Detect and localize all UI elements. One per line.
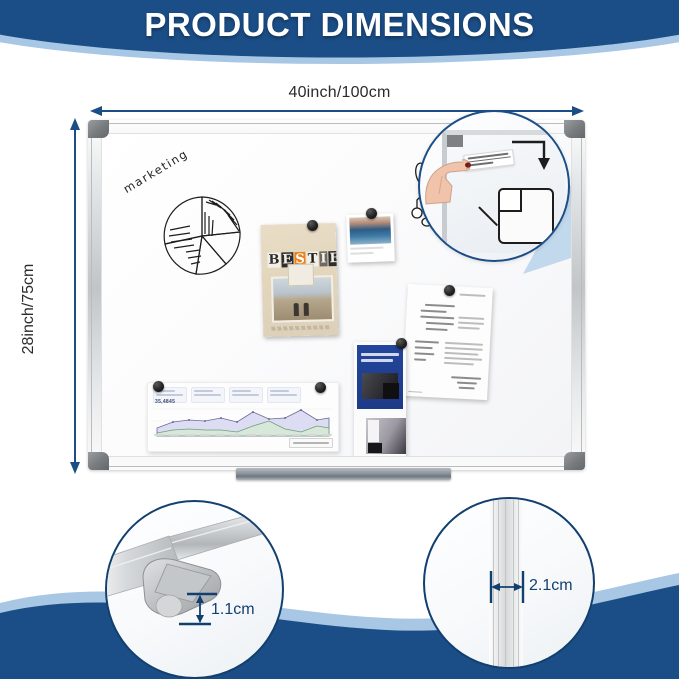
corner-cap-illustration: [107, 502, 282, 677]
frame-width-label: 2.1cm: [529, 577, 573, 595]
dashboard-area-chart: [153, 407, 333, 437]
corner-cap-top-left: [88, 120, 109, 138]
bestie-poster[interactable]: B E S T I E: [261, 223, 339, 337]
peel-direction-arrow: [510, 138, 556, 172]
dashboard-tab[interactable]: [191, 387, 225, 403]
booklet-cover: [357, 345, 403, 409]
corner-cap-bottom-left: [88, 452, 109, 470]
corner-cap-detail-circle: 1.1cm: [105, 500, 284, 679]
beach-photo-card[interactable]: [346, 213, 395, 263]
photo-card-caption-line: [350, 247, 383, 250]
magnet-dashboard-left[interactable]: [153, 381, 164, 392]
magnet-photo-card[interactable]: [366, 208, 377, 219]
analytics-dashboard-card[interactable]: 35,4845: [147, 382, 339, 452]
handwritten-text-marketing: marketing: [121, 146, 191, 196]
width-dimension-label: 40inch/100cm: [0, 84, 679, 102]
poster-footer-text: [271, 325, 331, 331]
corner-thickness-label: 1.1cm: [211, 601, 255, 619]
product-dimensions-infographic: PRODUCT DIMENSIONS 40inch/100cm 28inch/7…: [0, 0, 679, 679]
corner-cap-top-right: [564, 120, 585, 138]
magnet-booklet[interactable]: [396, 338, 407, 349]
corner-cap-bottom-right: [564, 452, 585, 470]
marker-pen-tray: [236, 468, 451, 480]
booklet-inner-image: [366, 418, 406, 454]
poster-inner-card: [288, 264, 315, 287]
header-banner: PRODUCT DIMENSIONS: [0, 0, 679, 78]
blue-booklet[interactable]: [354, 342, 406, 457]
magnet-poster[interactable]: [307, 220, 318, 231]
height-dimension-label: 28inch/75cm: [20, 244, 38, 374]
magnet-dashboard-right[interactable]: [315, 382, 326, 393]
dashboard-kpi-value: 35,4845: [155, 399, 175, 405]
photo-card-caption-line: [351, 252, 374, 255]
protective-film-callout: [418, 110, 570, 262]
magnet-letter[interactable]: [444, 285, 455, 296]
pie-chart-doodle-icon: [156, 192, 248, 278]
dashboard-tab[interactable]: [267, 387, 301, 403]
page-title: PRODUCT DIMENSIONS: [0, 6, 679, 44]
dashboard-detailed-analytics-button[interactable]: [289, 438, 333, 448]
hand-icon: [424, 146, 474, 206]
peel-corner-icon: [498, 188, 554, 244]
handwritten-note-group: marketing: [128, 150, 248, 265]
dashboard-tab[interactable]: [229, 387, 263, 403]
height-arrow: [68, 118, 82, 474]
dashboard-tabs[interactable]: [153, 387, 301, 403]
photo-card-image: [349, 216, 391, 244]
frame-thickness-detail-circle: 2.1cm: [423, 497, 595, 669]
letter-document[interactable]: [402, 284, 493, 400]
